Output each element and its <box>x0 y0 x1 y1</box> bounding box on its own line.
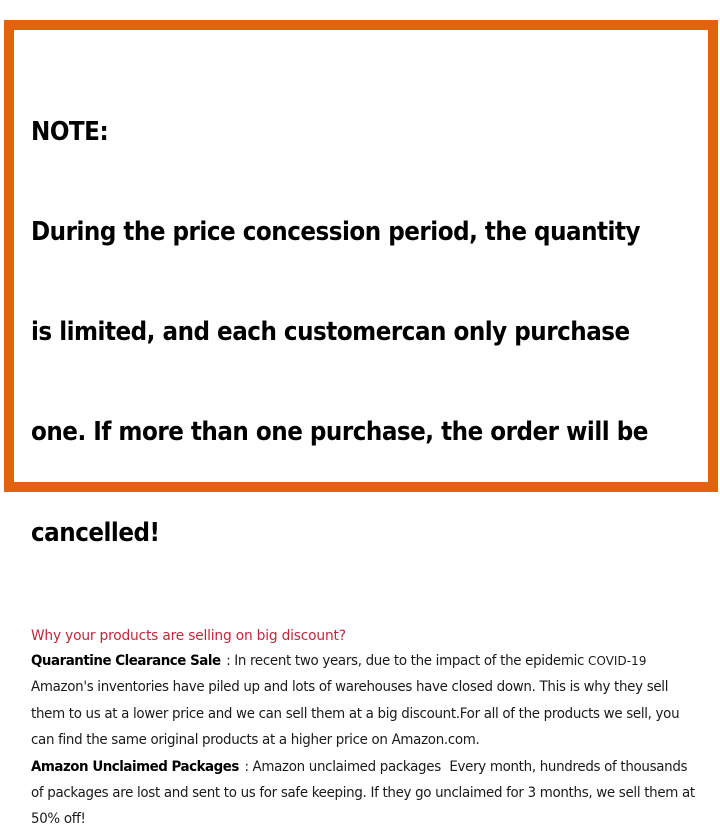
covid-acronym: COVID-19 <box>588 653 646 668</box>
headline-line-5: cancelled! <box>31 517 691 550</box>
paragraph-colon-quarantine: : <box>221 648 235 674</box>
headline-line-3: is limited, and each customercan only pu… <box>31 316 691 349</box>
paragraph-quarantine-clearance-sale: Quarantine Clearance Sale:In recent two … <box>31 648 695 754</box>
page-canvas: NOTE: During the price concession period… <box>0 0 720 514</box>
notice-headline: NOTE: During the price concession period… <box>31 49 691 617</box>
discount-question-subheading: Why your products are selling on big dis… <box>31 628 699 644</box>
paragraph-text-part1: Amazon unclaimed packages <box>253 759 441 775</box>
notice-box: NOTE: During the price concession period… <box>4 20 718 492</box>
paragraph-label-quarantine: Quarantine Clearance Sale <box>31 653 221 669</box>
paragraph-amazon-unclaimed-packages: Amazon Unclaimed Packages:Amazon unclaim… <box>31 754 695 833</box>
paragraph-label-unclaimed: Amazon Unclaimed Packages <box>31 759 239 775</box>
headline-line-4: one. If more than one purchase, the orde… <box>31 416 691 449</box>
headline-line-note: NOTE: <box>31 116 691 149</box>
paragraph-text-after-acronym: Amazon's inventories have piled up and l… <box>31 679 679 748</box>
notice-body: Quarantine Clearance Sale:In recent two … <box>31 648 695 833</box>
paragraph-text-before-acronym: In recent two years, due to the impact o… <box>234 653 588 669</box>
headline-line-2: During the price concession period, the … <box>31 216 691 249</box>
paragraph-colon-unclaimed: : <box>239 754 253 780</box>
notice-content: NOTE: During the price concession period… <box>14 30 708 482</box>
